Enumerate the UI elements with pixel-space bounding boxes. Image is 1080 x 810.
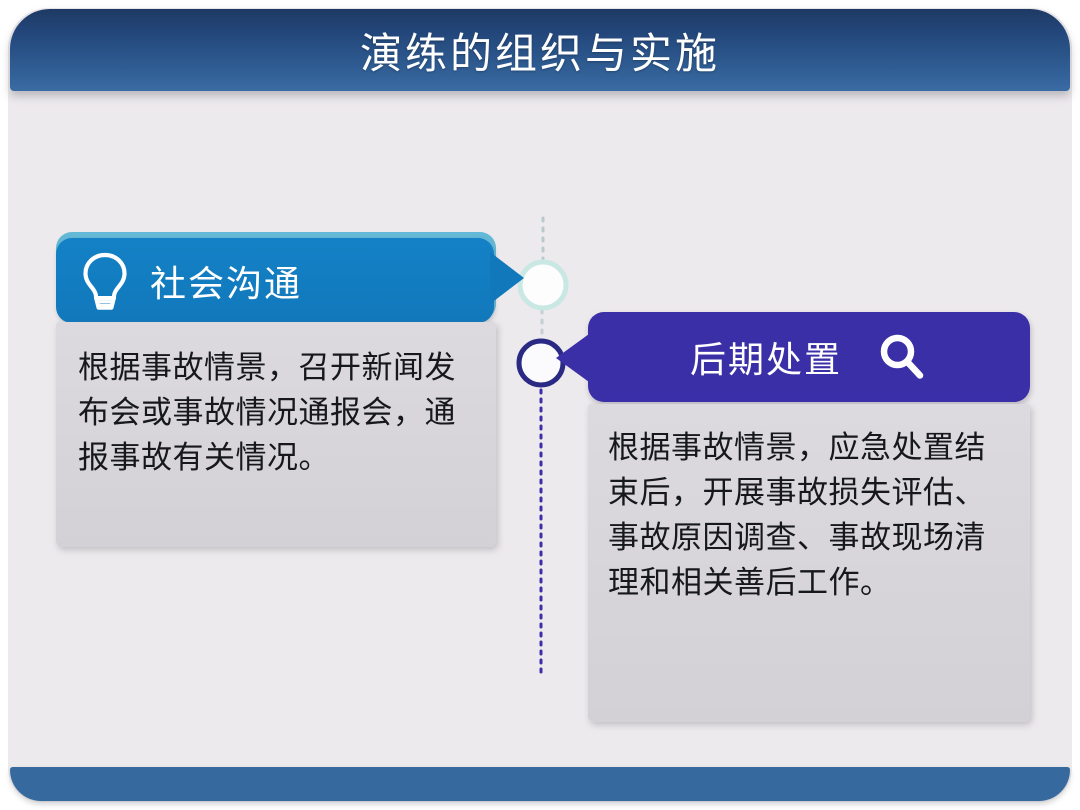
card-header-shell: 后期处置 — [588, 312, 1030, 406]
card-body: 根据事故情景，召开新闻发布会或事故情况通报会，通报事故有关情况。 — [56, 322, 496, 547]
card-pointer-arrow — [490, 252, 524, 304]
card-body-text: 根据事故情景，应急处置结束后，开展事故损失评估、事故原因调查、事故现场清理和相关… — [608, 426, 1010, 606]
lightbulb-icon — [78, 250, 132, 312]
card-social-communication[interactable]: 社会沟通 根据事故情景，召开新闻发布会或事故情况通报会，通报事故有关情况。 — [56, 232, 496, 547]
card-header[interactable]: 后期处置 — [588, 312, 1030, 402]
slide-footer-bar — [10, 767, 1070, 801]
slide-title-bar: 演练的组织与实施 — [10, 9, 1070, 91]
card-pointer-arrow — [556, 334, 589, 382]
slide-canvas: 演练的组织与实施 社会沟通 — [0, 0, 1080, 810]
card-post-incident-handling[interactable]: 后期处置 根据事故情景，应急处置结束后，开展事故损失评估、事故原因调查、事故现场… — [588, 312, 1030, 722]
card-title: 社会沟通 — [150, 255, 302, 307]
card-body-text: 根据事故情景，召开新闻发布会或事故情况通报会，通报事故有关情况。 — [78, 346, 474, 481]
search-icon — [876, 331, 928, 383]
page-title: 演练的组织与实施 — [360, 20, 720, 81]
card-header[interactable]: 社会沟通 — [56, 238, 494, 323]
card-title: 后期处置 — [690, 331, 842, 383]
card-body: 根据事故情景，应急处置结束后，开展事故损失评估、事故原因调查、事故现场清理和相关… — [588, 404, 1030, 722]
card-header-shell: 社会沟通 — [56, 232, 496, 324]
